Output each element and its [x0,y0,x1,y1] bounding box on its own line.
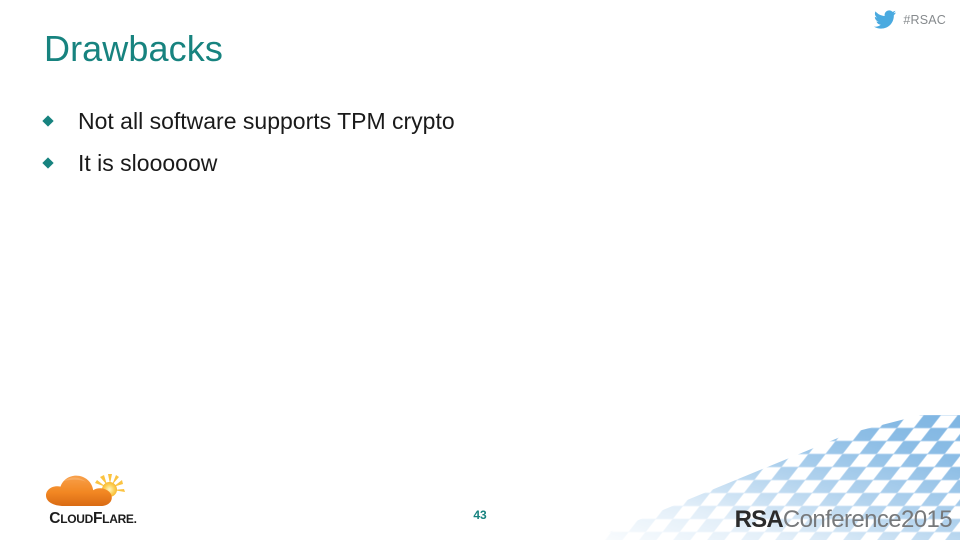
cloudflare-wordmark-f: F [93,510,102,527]
cloudflare-wordmark-lare: LARE. [102,512,137,526]
bullet-list: Not all software supports TPM crypto It … [44,108,884,192]
twitter-bird-icon [874,10,896,29]
cloudflare-logo: CLOUDFLARE. [28,472,158,530]
list-item: Not all software supports TPM crypto [44,108,884,135]
rsac-hashtag-block: #RSAC [874,10,946,29]
slide-canvas: #RSAC Drawbacks Not all software support… [0,0,960,540]
diamond-bullet-icon [42,157,53,168]
cloudflare-wordmark: CLOUDFLARE. [28,510,158,528]
diamond-bullet-icon [42,115,53,126]
page-title: Drawbacks [44,28,223,70]
rsac-hashtag-label: #RSAC [903,13,946,27]
list-item-label: Not all software supports TPM crypto [78,108,455,135]
list-item-label: It is slooooow [78,150,217,177]
cloudflare-wordmark-c: C [49,510,60,527]
cloudflare-wordmark-loud: LOUD [60,512,93,526]
list-item: It is slooooow [44,150,884,177]
cloudflare-cloud-icon [42,472,138,510]
